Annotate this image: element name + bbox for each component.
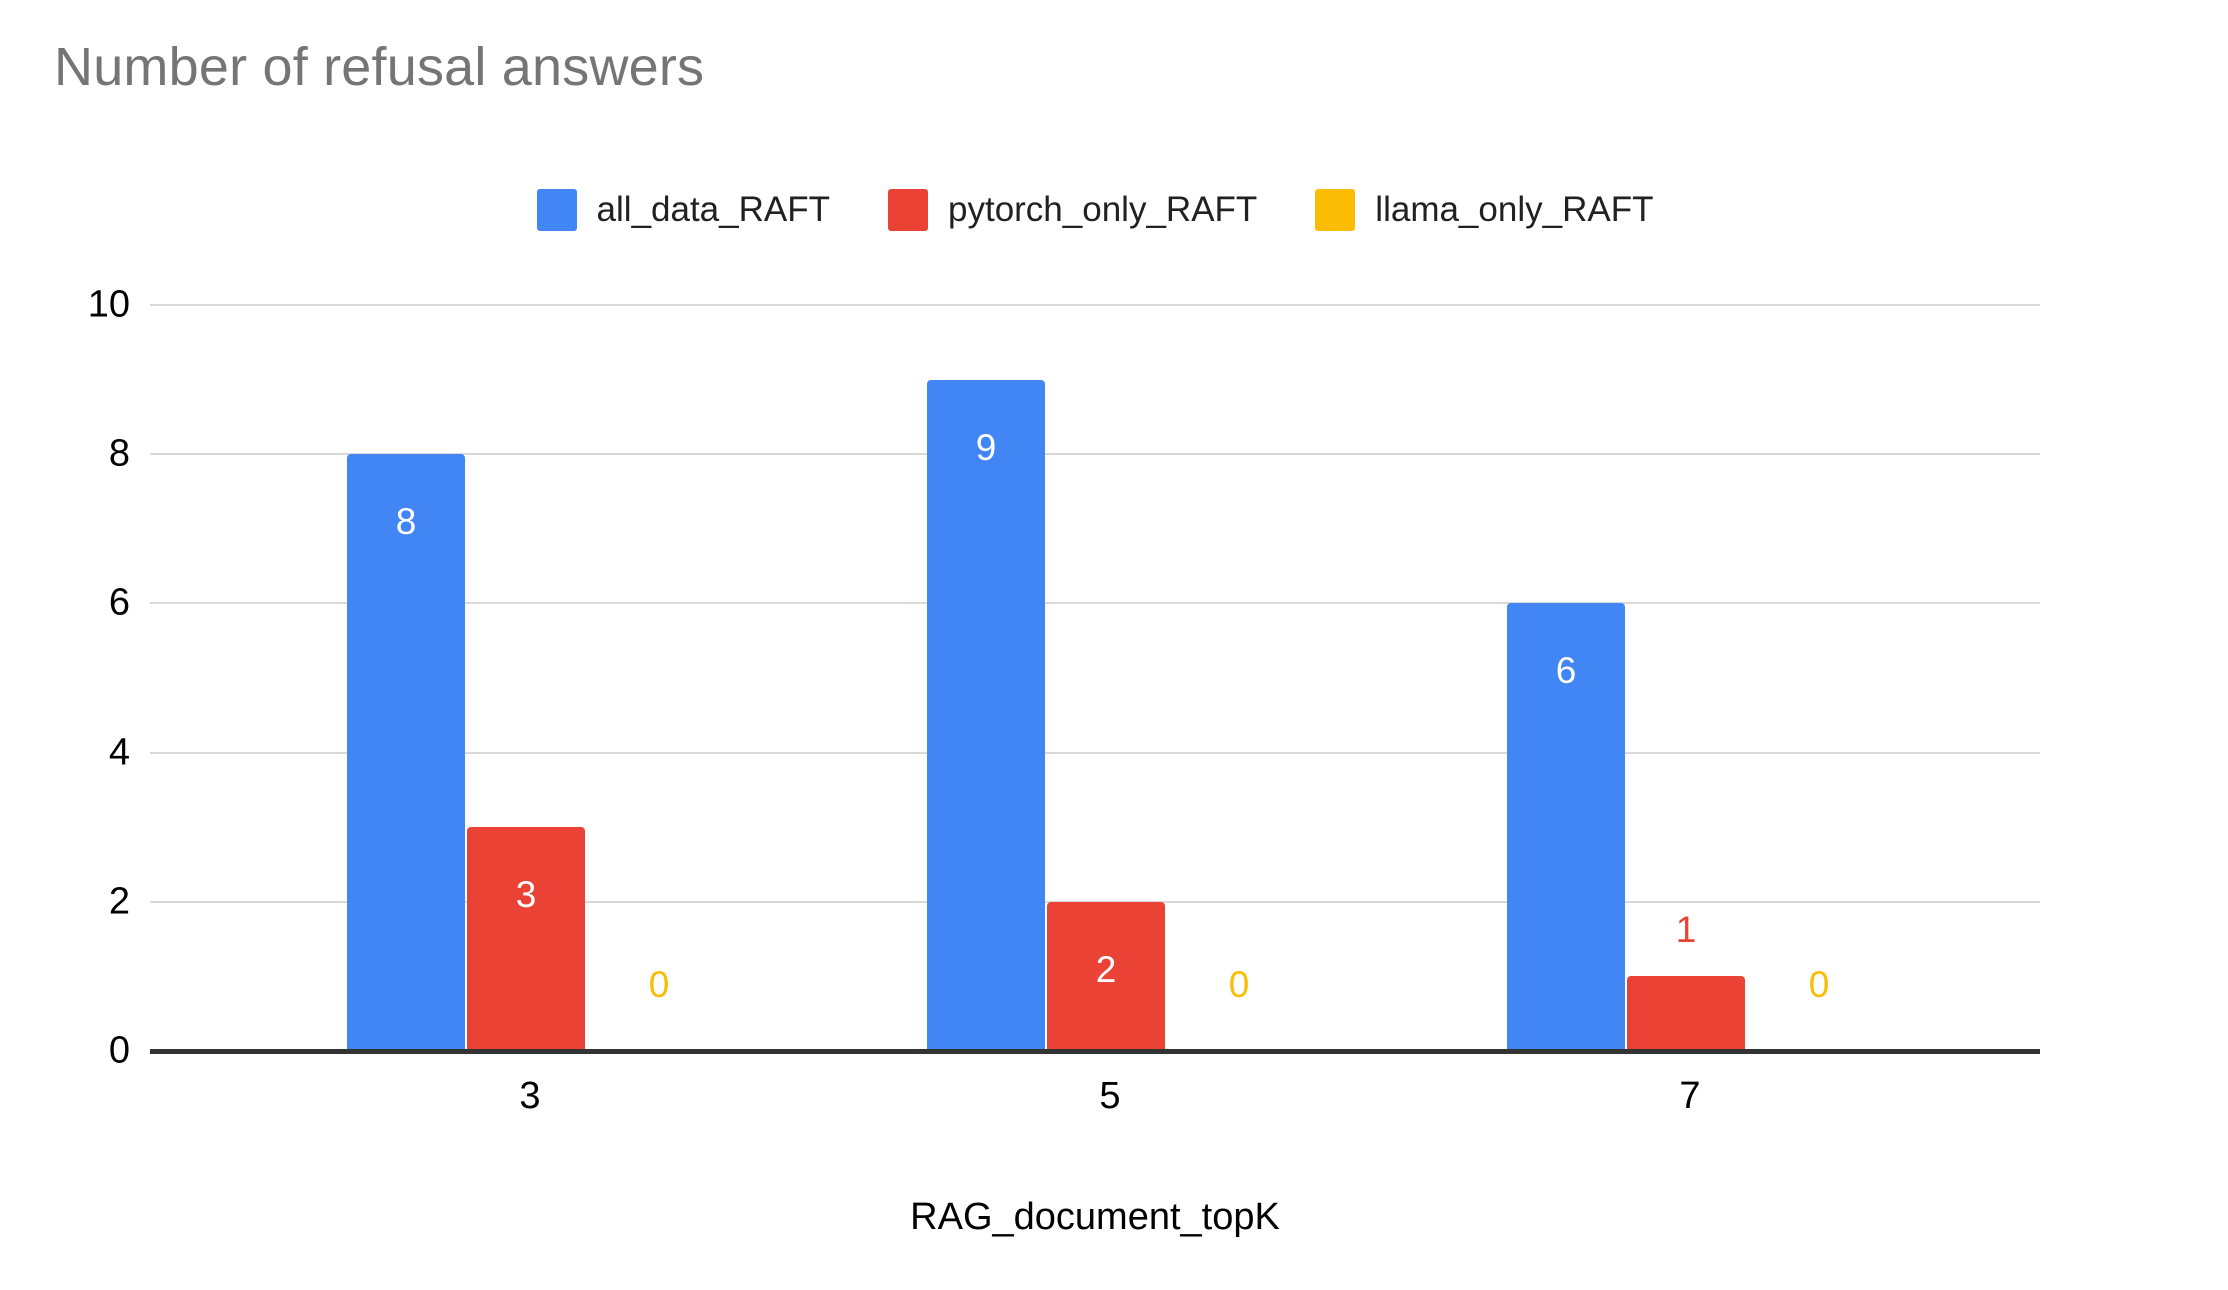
bar-pytorch_only_RAFT-3[interactable] <box>467 827 585 1051</box>
legend-item-all-data-raft[interactable]: all_data_RAFT <box>537 189 830 231</box>
plot-area: 830920610 <box>150 305 2040 1051</box>
bar-all_data_RAFT-3[interactable] <box>347 454 465 1051</box>
bar-value-label-pytorch_only_RAFT-7: 1 <box>1627 909 1745 951</box>
bar-all_data_RAFT-5[interactable] <box>927 380 1045 1051</box>
bar-all_data_RAFT-7[interactable] <box>1507 603 1625 1051</box>
chart-legend: all_data_RAFT pytorch_only_RAFT llama_on… <box>150 186 2040 234</box>
x-axis-tick-7: 7 <box>1590 1075 1790 1118</box>
y-axis-tick-2: 2 <box>20 880 130 923</box>
legend-swatch-icon-pytorch-only-raft <box>888 189 928 231</box>
legend-swatch-icon-llama-only-raft <box>1315 189 1355 231</box>
x-axis-tick-3: 3 <box>430 1075 630 1118</box>
bar-pytorch_only_RAFT-5[interactable] <box>1047 902 1165 1051</box>
y-axis-tick-labels: 1086420 <box>0 305 130 1051</box>
bar-value-label-llama_only_RAFT-3: 0 <box>600 964 718 1006</box>
legend-item-pytorch-only-raft[interactable]: pytorch_only_RAFT <box>888 189 1257 231</box>
gridline-10 <box>150 304 2040 306</box>
y-axis-tick-0: 0 <box>20 1030 130 1073</box>
y-axis-tick-8: 8 <box>20 433 130 476</box>
bar-value-label-llama_only_RAFT-7: 0 <box>1760 964 1878 1006</box>
bar-pytorch_only_RAFT-7[interactable] <box>1627 976 1745 1051</box>
legend-label-llama-only-raft: llama_only_RAFT <box>1375 190 1653 230</box>
x-axis-title: RAG_document_topK <box>150 1196 2040 1239</box>
x-axis-tick-5: 5 <box>1010 1075 1210 1118</box>
y-axis-tick-6: 6 <box>20 582 130 625</box>
legend-item-llama-only-raft[interactable]: llama_only_RAFT <box>1315 189 1653 231</box>
bar-value-label-llama_only_RAFT-5: 0 <box>1180 964 1298 1006</box>
legend-swatch-icon-all-data-raft <box>537 189 577 231</box>
chart-title: Number of refusal answers <box>54 36 704 98</box>
chart-canvas: Number of refusal answers all_data_RAFT … <box>0 0 2228 1290</box>
x-axis-line <box>150 1049 2040 1054</box>
legend-label-all-data-raft: all_data_RAFT <box>597 190 830 230</box>
y-axis-tick-10: 10 <box>20 284 130 327</box>
y-axis-tick-4: 4 <box>20 731 130 774</box>
legend-label-pytorch-only-raft: pytorch_only_RAFT <box>948 190 1257 230</box>
